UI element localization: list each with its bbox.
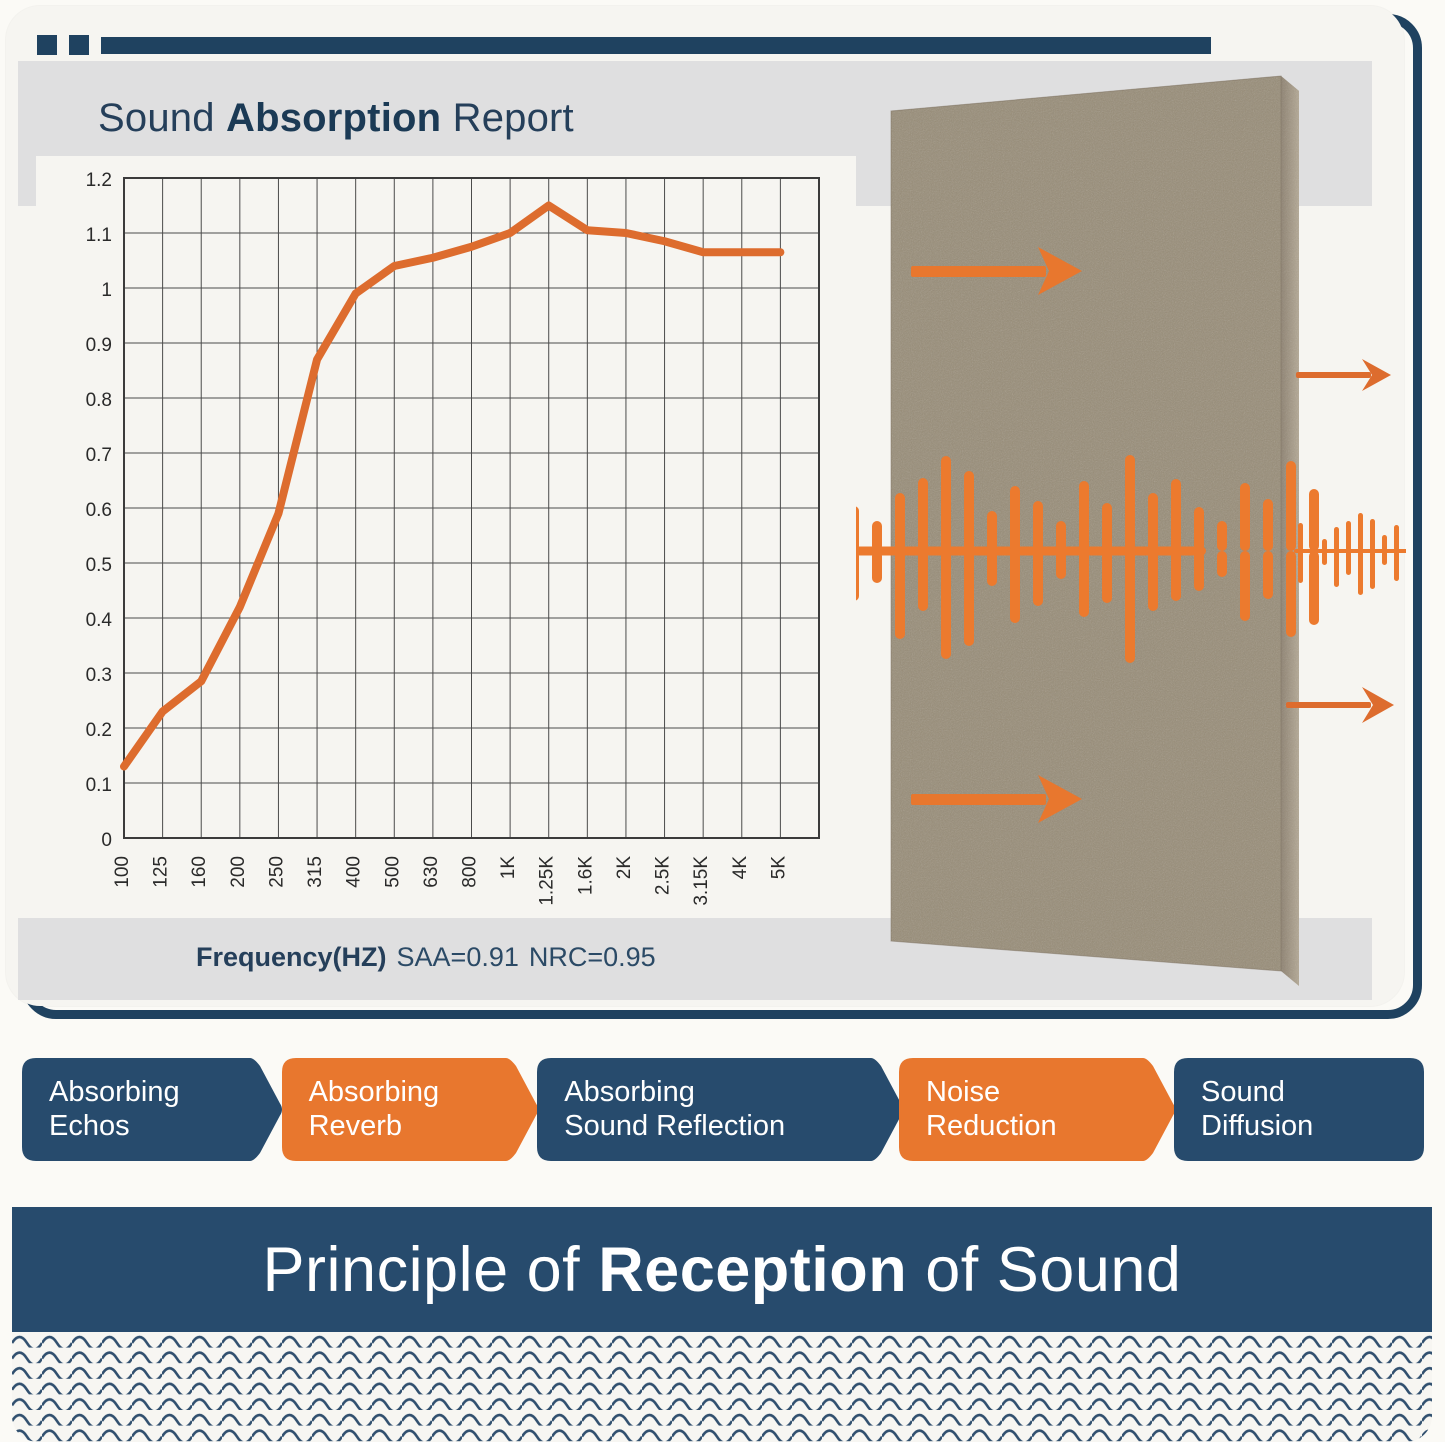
feature-badge[interactable]: NoiseReduction [899, 1058, 1168, 1161]
feature-badge[interactable]: AbsorbingReverb [282, 1058, 532, 1161]
chart-plot-svg: 00.10.20.30.40.50.60.70.80.911.11.210012… [36, 156, 856, 916]
footer-title: Principle of Reception of Sound [263, 1234, 1182, 1306]
x-tick-label: 1.25K [537, 856, 558, 906]
acoustic-panel-illustration [806, 66, 1406, 1006]
x-tick-label: 1.6K [575, 856, 596, 895]
feature-badge[interactable]: AbsorbingEchos [22, 1058, 276, 1161]
footer-title-pre: Principle of [263, 1235, 599, 1305]
y-tick-label: 0 [101, 830, 112, 851]
x-tick-label: 2K [614, 856, 635, 880]
x-tick-label: 125 [151, 856, 172, 888]
window-chrome [37, 35, 1211, 55]
report-title-bold: Absorption [226, 96, 441, 140]
badge-label-line2: Reverb [309, 1110, 440, 1144]
badge-label-line2: Sound Reflection [564, 1110, 785, 1144]
badge-label-line1: Absorbing [564, 1076, 785, 1110]
badge-label-line1: Sound [1201, 1076, 1313, 1110]
badge-label: AbsorbingEchos [49, 1076, 180, 1143]
feature-badge[interactable]: AbsorbingSound Reflection [537, 1058, 893, 1161]
chrome-square-two-icon [69, 35, 89, 55]
y-tick-label: 0.8 [86, 390, 112, 411]
badge-label-line1: Noise [926, 1076, 1057, 1110]
report-title-post: Report [441, 96, 574, 140]
badge-label-line2: Diffusion [1201, 1110, 1313, 1144]
report-card: Sound Absorption Report Sound Absorption… [6, 6, 1404, 1006]
panel-svg [806, 66, 1406, 1006]
badge-label-line1: Absorbing [49, 1076, 180, 1110]
chrome-square-one-icon [37, 35, 57, 55]
wave-pattern-svg [12, 1332, 1432, 1442]
x-tick-label: 1K [498, 856, 519, 880]
y-tick-label: 0.2 [86, 720, 112, 741]
y-tick-label: 1.1 [86, 225, 112, 246]
x-tick-label: 2.5K [653, 856, 674, 895]
badge-label-line2: Reduction [926, 1110, 1057, 1144]
x-tick-label: 250 [266, 856, 287, 888]
y-tick-label: 0.1 [86, 775, 112, 796]
y-tick-label: 0.7 [86, 445, 112, 466]
x-tick-label: 315 [305, 856, 326, 888]
x-tick-label: 500 [382, 856, 403, 888]
x-tick-label: 4K [730, 856, 751, 880]
transmitted-arrow-bottom [1286, 687, 1394, 723]
badge-label-line2: Echos [49, 1110, 180, 1144]
frequency-label: Frequency(HZ) [196, 942, 387, 972]
y-tick-label: 0.6 [86, 500, 112, 521]
chrome-bar-icon [101, 37, 1211, 54]
y-tick-label: 1 [101, 280, 112, 301]
badge-label: SoundDiffusion [1201, 1076, 1313, 1143]
footer-title-bold: Reception [598, 1235, 907, 1305]
x-tick-label: 800 [460, 856, 481, 888]
x-tick-label: 3.15K [691, 856, 712, 906]
report-title: Sound Absorption Report [98, 96, 574, 141]
y-tick-label: 0.9 [86, 335, 112, 356]
badge-label-line1: Absorbing [309, 1076, 440, 1110]
report-title-pre: Sound [98, 96, 226, 140]
x-tick-label: 5K [768, 856, 789, 880]
chart-footer-stats: Frequency(HZ)SAA=0.91NRC=0.95 [196, 942, 656, 973]
feature-badge[interactable]: SoundDiffusion [1174, 1058, 1416, 1161]
x-tick-label: 630 [421, 856, 442, 888]
badge-label: AbsorbingReverb [309, 1076, 440, 1143]
footer-title-post: of Sound [907, 1235, 1181, 1305]
feature-badge-row: AbsorbingEchosAbsorbingReverbAbsorbingSo… [22, 1058, 1422, 1161]
footer-title-bar: Principle of Reception of Sound [12, 1207, 1432, 1332]
x-tick-label: 400 [344, 856, 365, 888]
y-tick-label: 0.3 [86, 665, 112, 686]
y-tick-label: 0.5 [86, 555, 112, 576]
nrc-value: NRC=0.95 [529, 942, 656, 972]
y-tick-label: 0.4 [86, 610, 113, 631]
wave-pattern-footer [12, 1332, 1432, 1442]
saa-value: SAA=0.91 [397, 942, 519, 972]
transmitted-arrow-top [1296, 359, 1391, 391]
absorption-chart: Sound Absorption Coefficient 00.10.20.30… [36, 156, 856, 916]
x-tick-label: 160 [189, 856, 210, 888]
x-tick-label: 100 [112, 856, 133, 888]
badge-label: NoiseReduction [926, 1076, 1057, 1143]
y-tick-label: 1.2 [86, 170, 112, 191]
badge-label: AbsorbingSound Reflection [564, 1076, 785, 1143]
x-tick-label: 200 [228, 856, 249, 888]
